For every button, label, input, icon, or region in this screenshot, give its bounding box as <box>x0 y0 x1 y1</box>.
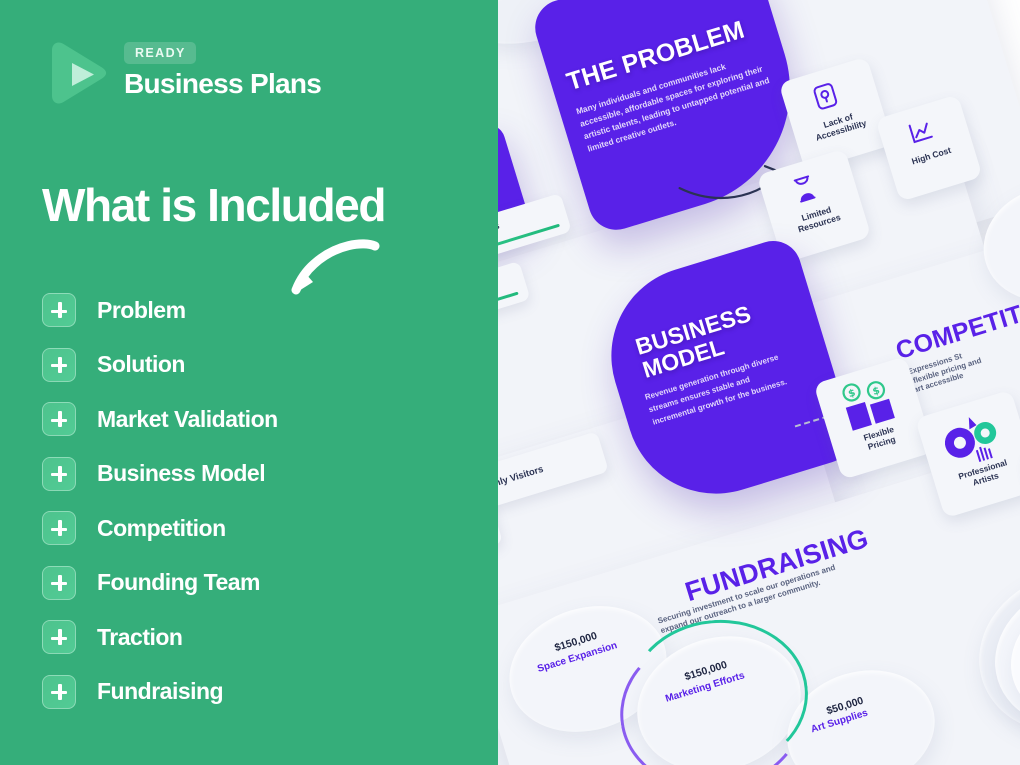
left-info-panel: READY Business Plans What is Included Pr… <box>0 0 498 765</box>
plus-icon <box>42 457 76 491</box>
ready-badge: READY <box>124 42 196 64</box>
included-item-label: Business Model <box>97 460 265 487</box>
included-item-label: Fundraising <box>97 678 223 705</box>
svg-text:$: $ <box>871 385 881 398</box>
included-item-traction[interactable]: Traction <box>42 610 278 665</box>
page-title: What is Included <box>42 182 385 228</box>
included-item-label: Solution <box>97 351 185 378</box>
included-item-label: Competition <box>97 515 226 542</box>
included-item-founding-team[interactable]: Founding Team <box>42 556 278 611</box>
included-item-label: Problem <box>97 297 186 324</box>
included-item-fundraising[interactable]: Fundraising <box>42 665 278 720</box>
included-item-label: Market Validation <box>97 406 278 433</box>
brand-text: READY Business Plans <box>124 36 321 98</box>
included-item-business-model[interactable]: Business Model <box>42 447 278 502</box>
slide-preview-panel: THE PROBLEM Many individuals and communi… <box>498 0 1020 765</box>
included-item-label: Founding Team <box>97 569 260 596</box>
curved-arrow-down-left-icon <box>280 238 380 309</box>
plus-icon <box>42 348 76 382</box>
included-item-solution[interactable]: Solution <box>42 338 278 393</box>
svg-text:$: $ <box>847 388 857 401</box>
plus-icon <box>42 675 76 709</box>
lock-document-icon <box>809 79 844 118</box>
plus-icon <box>42 511 76 545</box>
plus-icon <box>42 620 76 654</box>
cover-artboard: THE PROBLEM Many individuals and communi… <box>0 0 1020 765</box>
chip-label: Monthly Visitors <box>498 463 544 495</box>
included-item-competition[interactable]: Competition <box>42 501 278 556</box>
play-triangle-icon <box>46 40 108 106</box>
chart-line-icon <box>905 115 939 152</box>
slide-collage: THE PROBLEM Many individuals and communi… <box>498 0 1020 765</box>
included-item-market-validation[interactable]: Market Validation <box>42 392 278 447</box>
included-item-label: Traction <box>97 624 182 651</box>
brand-title: Business Plans <box>124 69 321 98</box>
included-list: Problem Solution Market Validation Busin… <box>42 283 278 719</box>
brand-logo: READY Business Plans <box>46 36 321 106</box>
plus-icon <box>42 402 76 436</box>
hourglass-icon <box>789 172 822 211</box>
included-item-problem[interactable]: Problem <box>42 283 278 338</box>
plus-icon <box>42 566 76 600</box>
plus-icon <box>42 293 76 327</box>
